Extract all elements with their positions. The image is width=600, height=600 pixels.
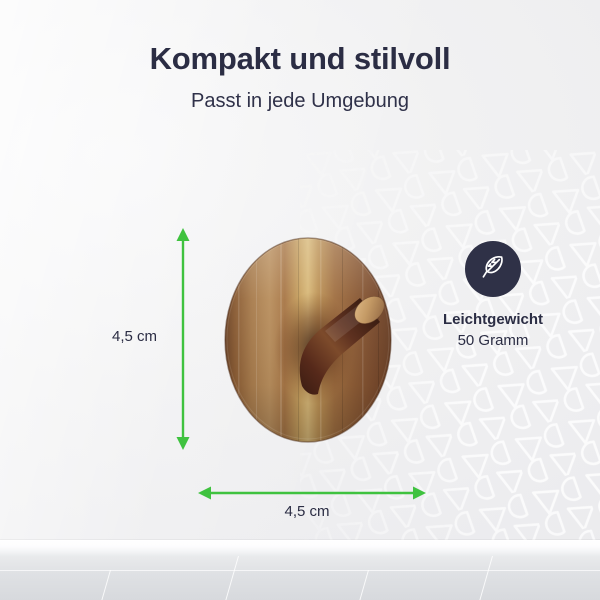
dimension-vertical [174,228,192,450]
floor-plank-line [355,570,369,600]
feature-badge [465,241,521,297]
feature-lightweight: Leichtgewicht 50 Gramm [413,241,573,349]
dimension-vertical-label: 4,5 cm [112,328,157,345]
dimension-horizontal-label-text: 4,5 cm [284,503,329,520]
product-infographic: Kompakt und stilvoll Passt in jede Umgeb… [0,0,600,600]
floor [0,556,600,600]
floor-seam [0,570,600,571]
floor-plank-line [225,556,239,600]
product-image [222,236,398,450]
dimension-horizontal-label: 4,5 cm [0,503,600,520]
dimension-horizontal [198,484,426,502]
page-subtitle: Passt in jede Umgebung [0,90,600,113]
feather-icon [478,252,508,287]
page-title: Kompakt und stilvoll [0,41,600,77]
feature-subtitle: 50 Gramm [413,332,573,349]
floor-plank-line [479,556,493,600]
feature-title: Leichtgewicht [413,311,573,328]
floor-plank-line [97,570,111,600]
